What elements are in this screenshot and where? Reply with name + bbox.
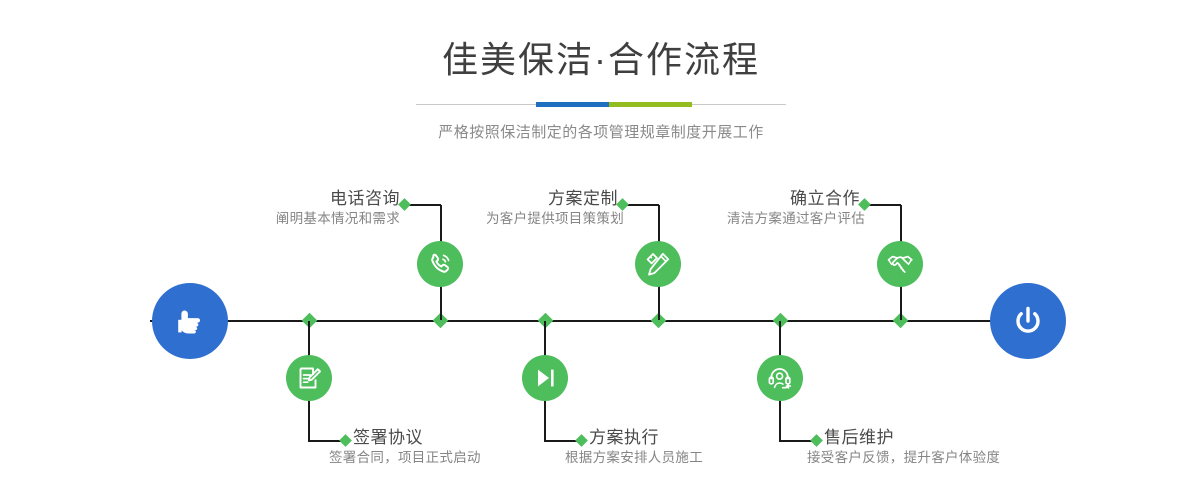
timeline-end-marker [990, 283, 1066, 359]
connector-horizontal-4 [544, 440, 579, 442]
document-edit-icon [295, 364, 323, 392]
step-label-6: 确立合作 清洁方案通过客户评估 [575, 188, 860, 230]
timeline-axis [150, 320, 1050, 322]
connector-horizontal-5 [779, 440, 814, 442]
phone-call-icon [426, 250, 454, 278]
step-title-6: 确立合作 [575, 188, 860, 209]
step-label-5: 售后维护 接受客户反馈，提升客户体验度 [824, 427, 1144, 469]
pencil-ruler-icon [644, 250, 672, 278]
step-icon-circle-1[interactable] [417, 241, 463, 287]
step-subtitle-5: 接受客户反馈，提升客户体验度 [807, 448, 1144, 468]
step-icon-circle-5[interactable] [757, 355, 803, 401]
step-subtitle-6: 清洁方案通过客户评估 [575, 209, 865, 229]
step-icon-circle-4[interactable] [522, 355, 568, 401]
play-execute-icon [531, 364, 559, 392]
timeline-start-marker [152, 283, 228, 359]
headset-support-icon [766, 364, 794, 392]
step-icon-circle-2[interactable] [286, 355, 332, 401]
step-icon-circle-3[interactable] [635, 241, 681, 287]
step-icon-circle-6[interactable] [877, 241, 923, 287]
handshake-icon [886, 250, 914, 278]
process-timeline: 电话咨询 阐明基本情况和需求 签署协议 签署合同，项目正式启动 [0, 0, 1202, 502]
connector-horizontal-2 [308, 440, 343, 442]
pointing-hand-icon [170, 301, 210, 341]
step-title-5: 售后维护 [824, 427, 1144, 448]
label-dot-2 [339, 434, 352, 447]
power-icon [1008, 301, 1048, 341]
connector-horizontal-6 [866, 204, 901, 206]
flowchart-page: 佳美保洁·合作流程 严格按照保洁制定的各项管理规章制度开展工作 [0, 0, 1202, 502]
